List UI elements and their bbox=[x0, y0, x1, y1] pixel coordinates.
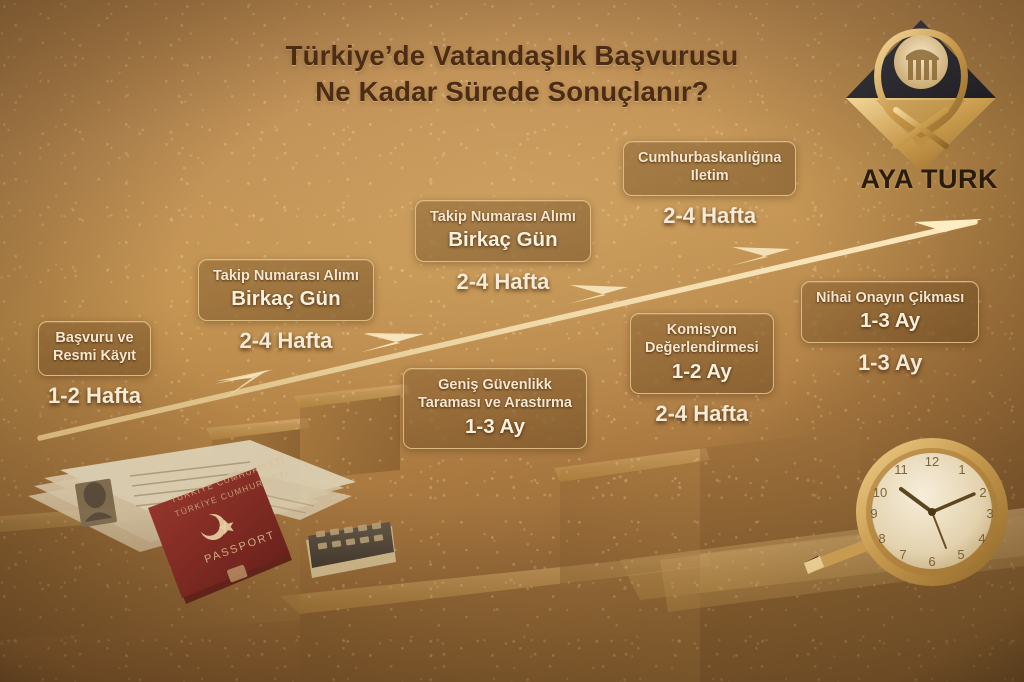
step-7-label-line1: Nihai Onayın Çikması bbox=[816, 289, 964, 307]
step-5-label-line2: Değerlendirmesi bbox=[645, 339, 759, 357]
step-3-label-line2: Taraması ve Arastırma bbox=[418, 394, 572, 412]
brand-name: AYA TURK bbox=[860, 164, 998, 195]
step-2-duration: 2-4 Hafta bbox=[198, 328, 374, 354]
step-5-card[interactable]: Komisyon Değerlendirmesi 1-2 Ay bbox=[630, 313, 774, 394]
svg-text:5: 5 bbox=[957, 547, 964, 562]
svg-text:PASSPORT: PASSPORT bbox=[203, 529, 277, 566]
svg-text:9: 9 bbox=[870, 506, 877, 521]
step-5-value: 1-2 Ay bbox=[645, 359, 759, 384]
step-2-card[interactable]: Takip Numarası Alımı Birkaç Gün bbox=[198, 259, 374, 321]
fountain-pen-icon bbox=[804, 534, 886, 574]
step-1-duration: 1-2 Hafta bbox=[38, 383, 151, 409]
step-7-value: 1-3 Ay bbox=[816, 308, 964, 333]
step-3[interactable]: Geniş Güvenlikk Taraması ve Arastırma 1-… bbox=[403, 368, 587, 449]
svg-text:12: 12 bbox=[925, 454, 939, 469]
step-5-label-line1: Komisyon bbox=[645, 321, 759, 339]
step-2-value: Birkaç Gün bbox=[213, 286, 359, 311]
step-1-label-line1: Başvuru ve bbox=[53, 329, 136, 347]
step-3-label-line1: Geniş Güvenlikk bbox=[418, 376, 572, 394]
svg-text:2: 2 bbox=[979, 485, 986, 500]
svg-text:4: 4 bbox=[978, 531, 985, 546]
step-2-label-line1: Takip Numarası Alımı bbox=[213, 267, 359, 285]
step-7[interactable]: Nihai Onayın Çikması 1-3 Ay 1-3 Ay bbox=[801, 281, 979, 376]
step-4-duration: 2-4 Hafta bbox=[415, 269, 591, 295]
step-5[interactable]: Komisyon Değerlendirmesi 1-2 Ay 2-4 Haft… bbox=[630, 313, 774, 427]
step-3-value: 1-3 Ay bbox=[418, 414, 572, 439]
svg-text:TÜRKİYE CUMHURİYETİ: TÜRKİYE CUMHURİYETİ bbox=[169, 454, 286, 505]
svg-text:11: 11 bbox=[894, 462, 908, 477]
step-6-duration: 2-4 Hafta bbox=[623, 203, 796, 229]
step-4-label-line1: Takip Numarası Alımı bbox=[430, 208, 576, 226]
step-6[interactable]: Cumhurbaskanlığına Iletim 2-4 Hafta bbox=[623, 141, 796, 229]
turkish-passport-icon: TÜRKİYE CUMHURİYETİ TÜRKİYE CUMHURİYETİ … bbox=[148, 454, 292, 604]
step-4-value: Birkaç Gün bbox=[430, 227, 576, 252]
step-1-label-line2: Resmi Käyıt bbox=[53, 347, 136, 365]
svg-text:TÜRKİYE CUMHURİYETİ: TÜRKİYE CUMHURİYETİ bbox=[173, 468, 290, 519]
aya-turk-diamond-logo[interactable] bbox=[836, 14, 1006, 174]
step-2[interactable]: Takip Numarası Alımı Birkaç Gün 2-4 Haft… bbox=[198, 259, 374, 354]
step-3-card[interactable]: Geniş Güvenlikk Taraması ve Arastırma 1-… bbox=[403, 368, 587, 449]
svg-text:8: 8 bbox=[878, 531, 885, 546]
calculator-icon bbox=[306, 522, 396, 578]
svg-text:1: 1 bbox=[958, 462, 965, 477]
svg-text:10: 10 bbox=[873, 485, 887, 500]
step-6-label-line2: Iletim bbox=[638, 167, 781, 185]
crescent-star-icon bbox=[196, 508, 237, 544]
step-4-card[interactable]: Takip Numarası Alımı Birkaç Gün bbox=[415, 200, 591, 262]
step-5-duration: 2-4 Hafta bbox=[630, 401, 774, 427]
official-documents-stack-icon bbox=[28, 440, 356, 552]
infographic-canvas: TÜRKİYE CUMHURİYETİ TÜRKİYE CUMHURİYETİ … bbox=[0, 0, 1024, 682]
step-1-card[interactable]: Başvuru ve Resmi Käyıt bbox=[38, 321, 151, 376]
step-4[interactable]: Takip Numarası Alımı Birkaç Gün 2-4 Haft… bbox=[415, 200, 591, 295]
step-1[interactable]: Başvuru ve Resmi Käyıt 1-2 Hafta bbox=[38, 321, 151, 409]
svg-text:3: 3 bbox=[986, 506, 993, 521]
step-6-label-line1: Cumhurbaskanlığına bbox=[638, 149, 781, 167]
svg-text:7: 7 bbox=[899, 547, 906, 562]
step-6-card[interactable]: Cumhurbaskanlığına Iletim bbox=[623, 141, 796, 196]
analog-desk-clock-icon: 12 1 2 3 4 5 6 7 8 9 10 11 bbox=[856, 438, 1008, 586]
step-7-card[interactable]: Nihai Onayın Çikması 1-3 Ay bbox=[801, 281, 979, 343]
svg-text:6: 6 bbox=[928, 554, 935, 569]
step-7-duration: 1-3 Ay bbox=[801, 350, 979, 376]
